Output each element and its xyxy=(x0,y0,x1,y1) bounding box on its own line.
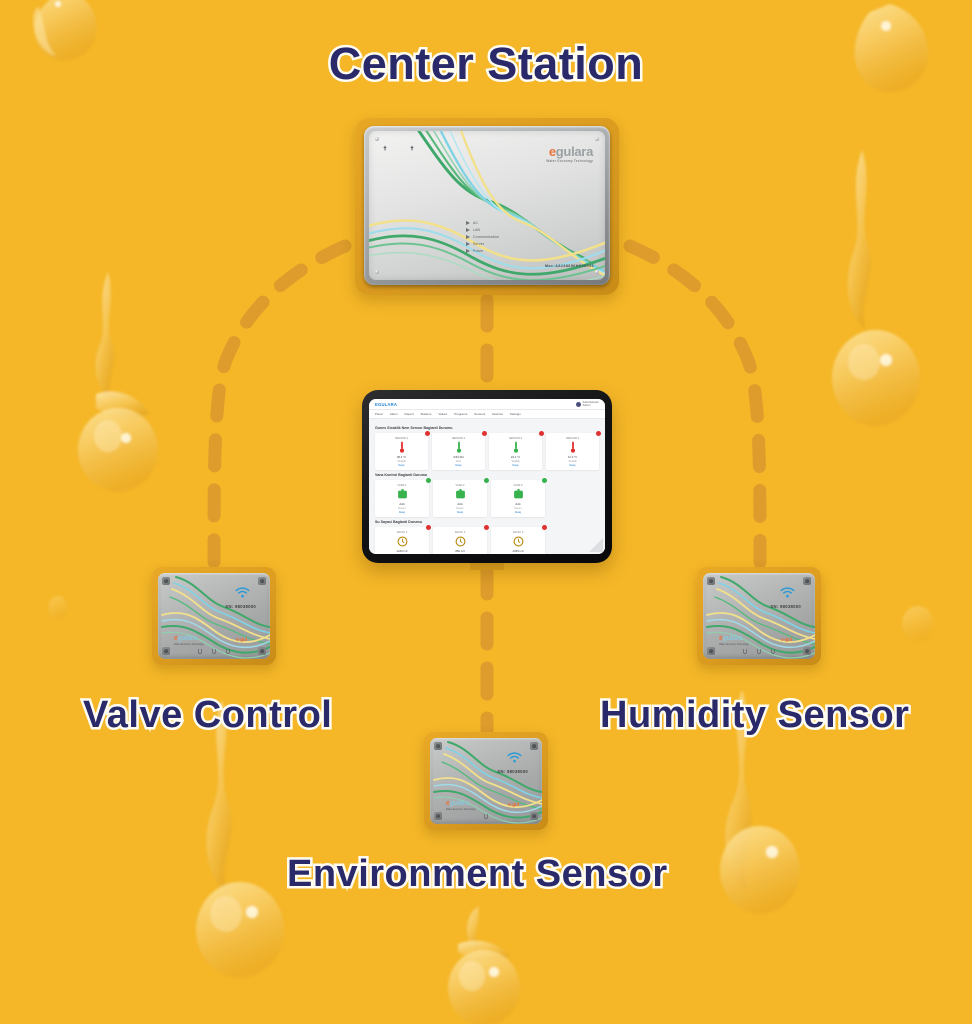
status-badge xyxy=(483,524,490,531)
indicator-label: Communication xyxy=(473,235,499,239)
status-badge xyxy=(538,430,545,437)
meter-card[interactable]: SAYAC 3 2035 m3 Toplam Son Okuma 12.04.2… xyxy=(491,527,545,554)
card-value: 24.1 °C xyxy=(491,455,540,459)
arrow-up-mark-1 xyxy=(381,145,389,151)
wifi-icon xyxy=(235,587,250,599)
port-icon xyxy=(226,648,231,654)
section-card-grid: SENSOR 1 38.4 °C Sicaklik Detay SENSOR 2 xyxy=(375,433,599,470)
screw-icon xyxy=(595,137,599,141)
brand-highlight: gulara xyxy=(723,635,742,642)
port-icon xyxy=(198,648,203,654)
user-role: Admin xyxy=(583,404,599,407)
port-icon xyxy=(743,648,748,654)
water-meter-icon xyxy=(493,534,543,548)
brand-tagline: Water Economy Technology xyxy=(719,644,749,646)
status-indicator-row: AC xyxy=(466,219,499,226)
card-value: %62 RH xyxy=(434,455,483,459)
screw-icon xyxy=(375,137,379,141)
device-brand-logo: egulara Water Economy Technology xyxy=(719,635,749,646)
arrow-up-mark-2 xyxy=(408,145,416,151)
brand-highlight: gulara xyxy=(178,635,197,642)
water-meter-icon xyxy=(377,534,427,548)
brand-tagline: Water Economy Technology xyxy=(546,160,593,163)
thermometer-icon xyxy=(377,440,426,454)
device-secondary-mark: e-gul xyxy=(236,637,247,643)
brand-tagline: Water Economy Technology xyxy=(174,644,204,646)
sensor-card[interactable]: SENSOR 2 %62 RH Nem Detay xyxy=(432,433,485,470)
wave-graphic xyxy=(703,573,815,659)
screw-icon xyxy=(707,647,715,655)
screw-icon xyxy=(434,742,442,750)
brand-wordmark: egulara xyxy=(174,635,204,642)
user-menu[interactable]: Administrator Admin xyxy=(576,401,599,408)
card-link[interactable]: Detay xyxy=(435,511,485,514)
port-row xyxy=(743,648,776,654)
card-value: Acik xyxy=(377,502,427,506)
card-value: 38.4 °C xyxy=(377,455,426,459)
card-subtitle: Toplam xyxy=(377,554,427,555)
screw-icon xyxy=(434,812,442,820)
status-indicator-row: Communication xyxy=(466,233,499,240)
card-subtitle: Nem xyxy=(434,460,483,463)
sensor-card[interactable]: SENSOR 1 38.4 °C Sicaklik Detay xyxy=(375,433,428,470)
tablet-device[interactable]: EGULARA Administrator Admin Panel Alarm … xyxy=(362,390,612,563)
screw-icon xyxy=(375,270,379,274)
section-card-grid: SAYAC 1 1240 m3 Toplam Son Okuma 12.04.2… xyxy=(375,527,599,554)
device-enclosure: SN: 98038000 egulara Water Economy Techn… xyxy=(158,573,270,659)
screw-icon xyxy=(162,647,170,655)
status-badge xyxy=(425,524,432,531)
valve-icon xyxy=(377,487,427,501)
center-station-faceplate: egulara Water Economy Technology AC LAN xyxy=(369,131,605,280)
indicator-label: Power xyxy=(473,249,484,253)
humidity-sensor-device[interactable]: SN: 98038000 egulara Water Economy Techn… xyxy=(697,567,821,665)
card-link[interactable]: Detay xyxy=(548,464,597,467)
wifi-icon xyxy=(780,587,795,599)
status-badge xyxy=(481,430,488,437)
card-value: Acik xyxy=(493,502,543,506)
page-title: Center Station xyxy=(0,38,972,90)
card-link[interactable]: Detay xyxy=(377,511,427,514)
valve-card[interactable]: VANA 1 Acik Durum Detay xyxy=(375,480,429,517)
port-icon xyxy=(212,648,217,654)
card-subtitle: Sicaklik xyxy=(491,460,540,463)
card-subtitle: Durum xyxy=(493,507,543,510)
section-title: Gunes Sicaklik Nem Sensor Baglanti Durum… xyxy=(375,426,599,430)
water-meter-icon xyxy=(435,534,485,548)
card-subtitle: Toplam xyxy=(435,554,485,555)
screw-icon xyxy=(258,647,266,655)
card-link[interactable]: Detay xyxy=(493,511,543,514)
triangle-marker-icon xyxy=(466,249,470,253)
user-info: Administrator Admin xyxy=(583,401,599,408)
card-subtitle: Durum xyxy=(377,507,427,510)
screw-icon xyxy=(803,647,811,655)
thermometer-icon xyxy=(548,440,597,454)
brand-highlight: gulara xyxy=(556,144,593,159)
sensor-card[interactable]: SENSOR 3 24.1 °C Sicaklik Detay xyxy=(489,433,542,470)
thermometer-icon xyxy=(491,440,540,454)
device-enclosure: SN: 98038000 egulara Water Economy Techn… xyxy=(703,573,815,659)
wave-graphic xyxy=(158,573,270,659)
valve-card[interactable]: VANA 3 Acik Durum Detay xyxy=(491,480,545,517)
wave-graphic xyxy=(430,738,542,824)
dashboard-logo[interactable]: EGULARA xyxy=(375,402,397,407)
screw-icon xyxy=(803,577,811,585)
nav-item[interactable]: Programs xyxy=(454,412,467,416)
device-enclosure: SN: 98038000 egulara Water Economy Techn… xyxy=(430,738,542,824)
dashboard-content: Gunes Sicaklik Nem Sensor Baglanti Durum… xyxy=(369,419,605,554)
screw-icon xyxy=(707,577,715,585)
screw-icon xyxy=(162,577,170,585)
meter-card[interactable]: SAYAC 2 860 m3 Toplam Son Okuma 12.04.20… xyxy=(433,527,487,554)
valve-control-device[interactable]: SN: 98038000 egulara Water Economy Techn… xyxy=(152,567,276,665)
valve-icon xyxy=(493,487,543,501)
dashboard-nav[interactable]: Panel Alarm Report Stations Valves Progr… xyxy=(369,410,605,419)
thermometer-icon xyxy=(434,440,483,454)
valve-card[interactable]: VANA 2 Acik Durum Detay xyxy=(433,480,487,517)
screw-icon xyxy=(530,812,538,820)
center-station-brand-logo: egulara Water Economy Technology xyxy=(546,145,593,163)
triangle-marker-icon xyxy=(466,235,470,239)
center-station-device[interactable]: egulara Water Economy Technology AC LAN xyxy=(355,118,619,295)
brand-wordmark: egulara xyxy=(446,800,476,807)
screen-corner-fold xyxy=(589,538,603,552)
nav-item[interactable]: Stations xyxy=(421,412,432,416)
environment-sensor-device[interactable]: SN: 98038000 egulara Water Economy Techn… xyxy=(424,732,548,830)
card-subtitle: Sicaklik xyxy=(548,460,597,463)
card-link[interactable]: Detay xyxy=(491,464,540,467)
card-value: Acik xyxy=(435,502,485,506)
status-indicator-list: AC LAN Communication Server xyxy=(466,219,499,254)
card-value: 2035 m3 xyxy=(493,549,543,553)
card-subtitle: Sicaklik xyxy=(377,460,426,463)
screw-icon xyxy=(530,742,538,750)
device-brand-logo: egulara Water Economy Technology xyxy=(174,635,204,646)
device-secondary-mark: e-gul xyxy=(508,802,519,808)
screw-icon xyxy=(258,577,266,585)
device-serial-number: SN: 98038000 xyxy=(497,769,528,774)
port-icon xyxy=(771,648,776,654)
meter-card[interactable]: SAYAC 1 1240 m3 Toplam Son Okuma 12.04.2… xyxy=(375,527,429,554)
connector-to-valve xyxy=(214,246,345,562)
status-badge xyxy=(541,477,548,484)
humidity-sensor-label: Humidity Sensor xyxy=(600,694,909,737)
port-row xyxy=(484,813,489,819)
triangle-marker-icon xyxy=(466,242,470,246)
card-value: 1240 m3 xyxy=(377,549,427,553)
environment-sensor-label: Environment Sensor xyxy=(287,853,668,896)
center-station-serial-number: Mac:A8238656H000558 xyxy=(545,264,594,268)
nav-item[interactable]: Alarm xyxy=(390,412,398,416)
indicator-label: Server xyxy=(473,242,484,246)
avatar xyxy=(576,402,581,407)
device-serial-number: SN: 98038000 xyxy=(770,604,801,609)
screw-icon xyxy=(595,270,599,274)
tablet-screen[interactable]: EGULARA Administrator Admin Panel Alarm … xyxy=(369,399,605,554)
card-link[interactable]: Detay xyxy=(377,464,426,467)
card-value: 860 m3 xyxy=(435,549,485,553)
port-icon xyxy=(757,648,762,654)
card-value: 41.0 °C xyxy=(548,455,597,459)
status-badge xyxy=(483,477,490,484)
triangle-marker-icon xyxy=(466,221,470,225)
brand-tagline: Water Economy Technology xyxy=(446,809,476,811)
indicator-label: AC xyxy=(473,221,478,225)
sensor-card[interactable]: SENSOR 4 41.0 °C Sicaklik Detay xyxy=(546,433,599,470)
brand-wordmark: egulara xyxy=(546,145,593,158)
status-indicator-row: Power xyxy=(466,247,499,254)
status-badge xyxy=(541,524,548,531)
center-station-bezel: egulara Water Economy Technology AC LAN xyxy=(364,126,610,285)
status-badge xyxy=(424,430,431,437)
nav-item[interactable]: Panel xyxy=(375,412,383,416)
device-serial-number: SN: 98038000 xyxy=(225,604,256,609)
port-row xyxy=(198,648,231,654)
port-icon xyxy=(484,813,489,819)
status-badge xyxy=(595,430,602,437)
wifi-icon xyxy=(507,752,522,764)
device-brand-logo: egulara Water Economy Technology xyxy=(446,800,476,811)
triangle-marker-icon xyxy=(466,228,470,232)
nav-item[interactable]: Sensors xyxy=(474,412,485,416)
valve-icon xyxy=(435,487,485,501)
dashboard-header: EGULARA Administrator Admin xyxy=(369,399,605,410)
indicator-label: LAN xyxy=(473,228,480,232)
device-secondary-mark: e-gul xyxy=(781,637,792,643)
section-card-grid: VANA 1 Acik Durum Detay VANA 2 xyxy=(375,480,599,517)
nav-item[interactable]: Settings xyxy=(510,412,521,416)
status-indicator-row: LAN xyxy=(466,226,499,233)
nav-item[interactable]: Report xyxy=(405,412,414,416)
brand-highlight: gulara xyxy=(450,800,469,807)
nav-item[interactable]: Valves xyxy=(438,412,447,416)
card-link[interactable]: Detay xyxy=(434,464,483,467)
status-badge xyxy=(425,477,432,484)
brand-wordmark: egulara xyxy=(719,635,749,642)
valve-control-label: Valve Control xyxy=(83,694,332,737)
status-indicator-row: Server xyxy=(466,240,499,247)
nav-item[interactable]: Devices xyxy=(492,412,503,416)
card-subtitle: Durum xyxy=(435,507,485,510)
card-subtitle: Toplam xyxy=(493,554,543,555)
diagram-canvas: egulara Water Economy Technology AC LAN xyxy=(0,0,972,1024)
connector-to-humidity xyxy=(630,246,760,562)
